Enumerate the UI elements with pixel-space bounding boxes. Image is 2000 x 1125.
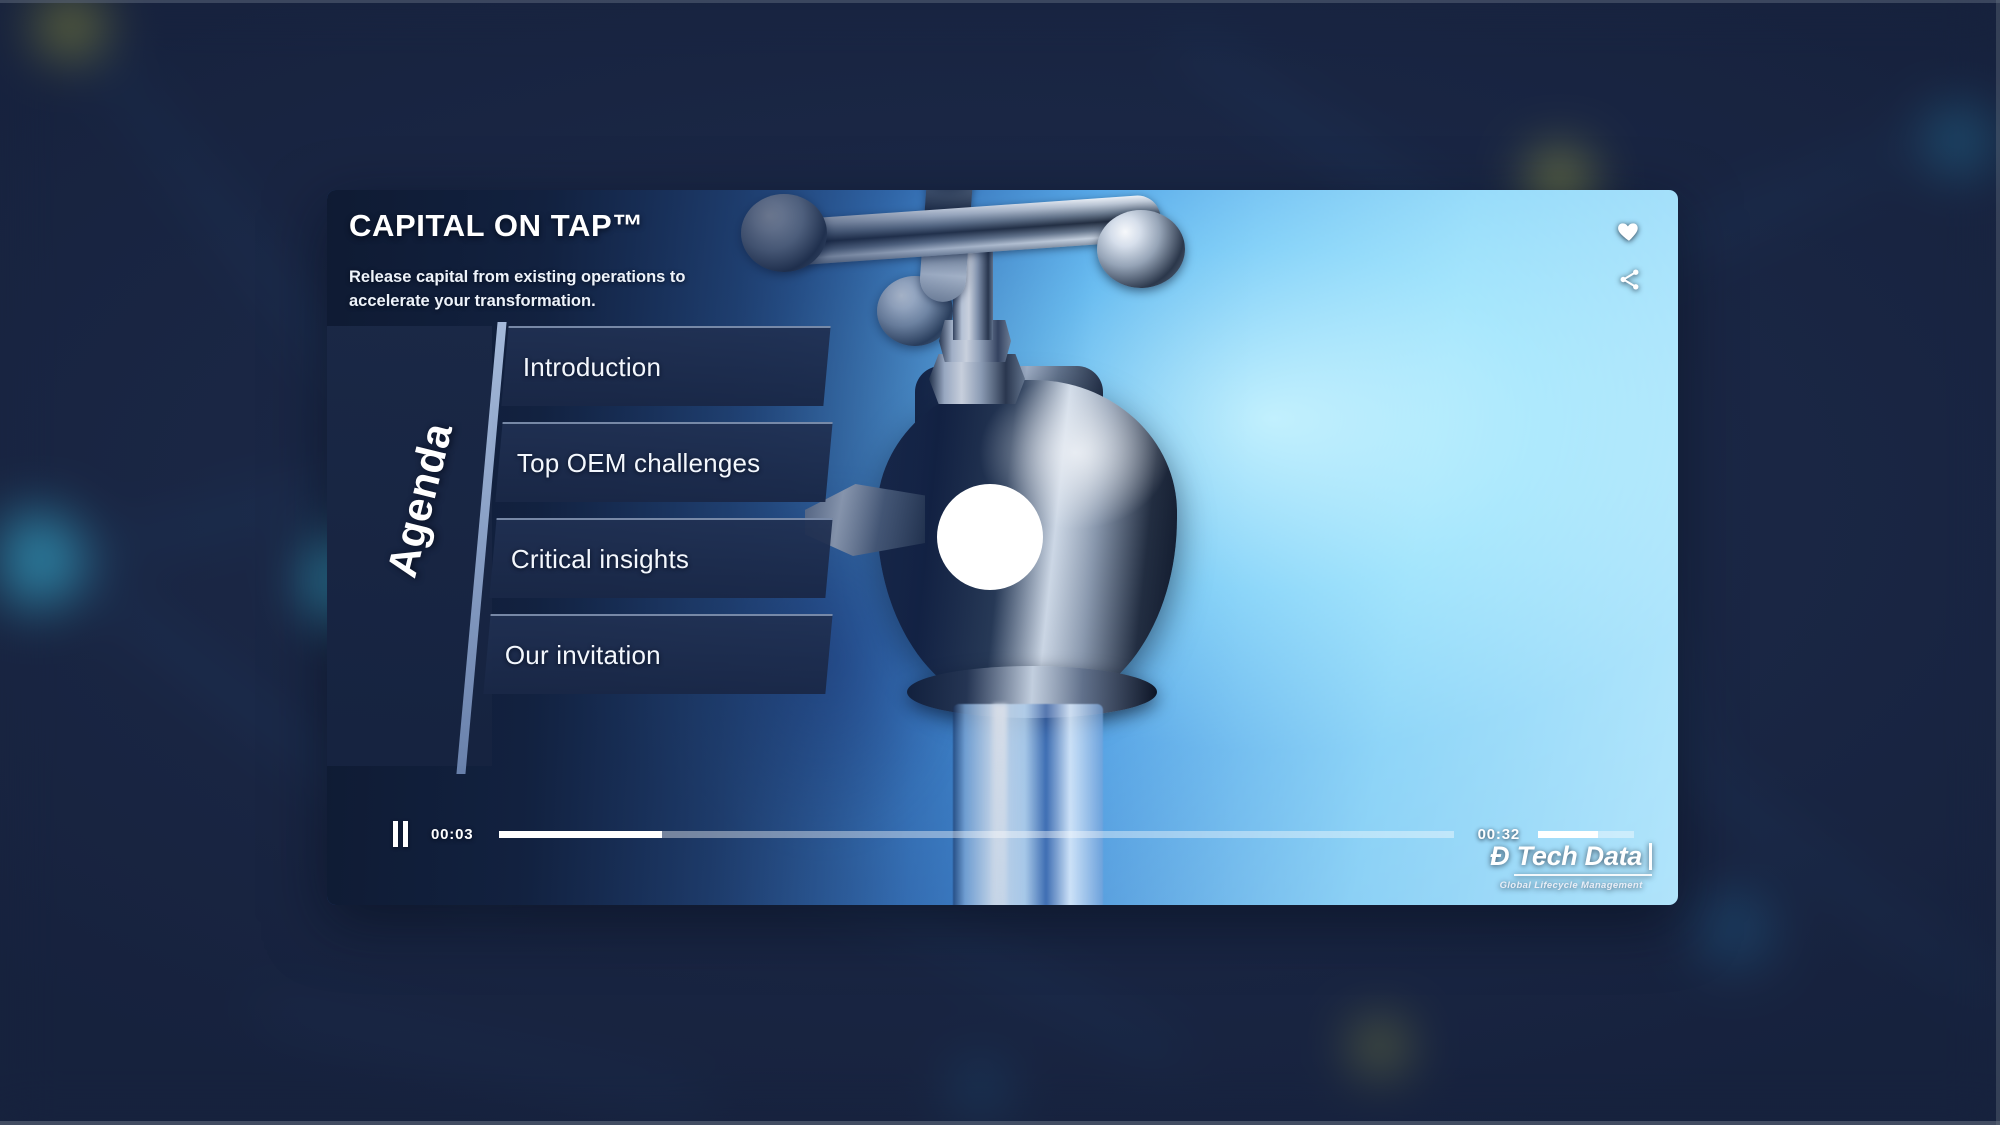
agenda-panel: Agenda Introduction Top OEM challenges C… [327,326,847,766]
player-controls-row: 00:03 00:32 [393,821,1634,847]
volume-slider[interactable] [1538,831,1634,838]
share-icon[interactable] [1614,264,1644,294]
pause-bar-right [403,821,408,847]
player-controls-bar: 00:03 00:32 [327,785,1678,905]
page-right-edge [1996,0,2000,1125]
tech-data-logo-wordmark: Tech Data [1517,843,1642,870]
agenda-item-label: Top OEM challenges [499,448,761,479]
play-icon [937,484,1043,590]
agenda-item-label: Introduction [505,352,661,383]
video-player[interactable]: CAPITAL ON TAP™ Release capital from exi… [327,190,1678,905]
action-icon-group [1614,216,1644,294]
agenda-item-top-oem-challenges[interactable]: Top OEM challenges [495,422,832,502]
video-poster-frame: CAPITAL ON TAP™ Release capital from exi… [327,190,1678,905]
progress-slider[interactable] [499,831,1453,838]
tech-data-logo: Đ Tech Data Global Lifecycle Management [1490,843,1652,891]
agenda-item-introduction[interactable]: Introduction [501,326,830,406]
current-time-label: 00:03 [431,826,473,843]
page-bottom-edge [0,1121,2000,1125]
agenda-item-our-invitation[interactable]: Our invitation [483,614,832,694]
title-block: CAPITAL ON TAP™ Release capital from exi… [349,208,989,314]
video-subtitle: Release capital from existing operations… [349,266,709,314]
heart-icon[interactable] [1614,216,1644,246]
tech-data-logo-row: Đ Tech Data [1490,843,1652,870]
duration-label: 00:32 [1478,826,1520,843]
tech-data-logo-mark: Đ [1490,843,1510,870]
video-title: CAPITAL ON TAP™ [349,208,989,244]
agenda-item-label: Critical insights [493,544,689,575]
pause-icon[interactable] [393,821,411,847]
volume-slider-fill [1538,831,1598,838]
tech-data-logo-tagline: Global Lifecycle Management [1490,880,1652,891]
pause-bar-left [393,821,398,847]
agenda-list: Introduction Top OEM challenges Critical… [495,326,847,766]
agenda-item-critical-insights[interactable]: Critical insights [489,518,832,598]
page-root: CAPITAL ON TAP™ Release capital from exi… [0,0,2000,1125]
agenda-item-label: Our invitation [487,640,661,671]
progress-slider-fill [499,831,661,838]
tech-data-logo-underline [1514,874,1652,876]
play-button[interactable] [937,484,1043,590]
page-top-edge [0,0,2000,3]
